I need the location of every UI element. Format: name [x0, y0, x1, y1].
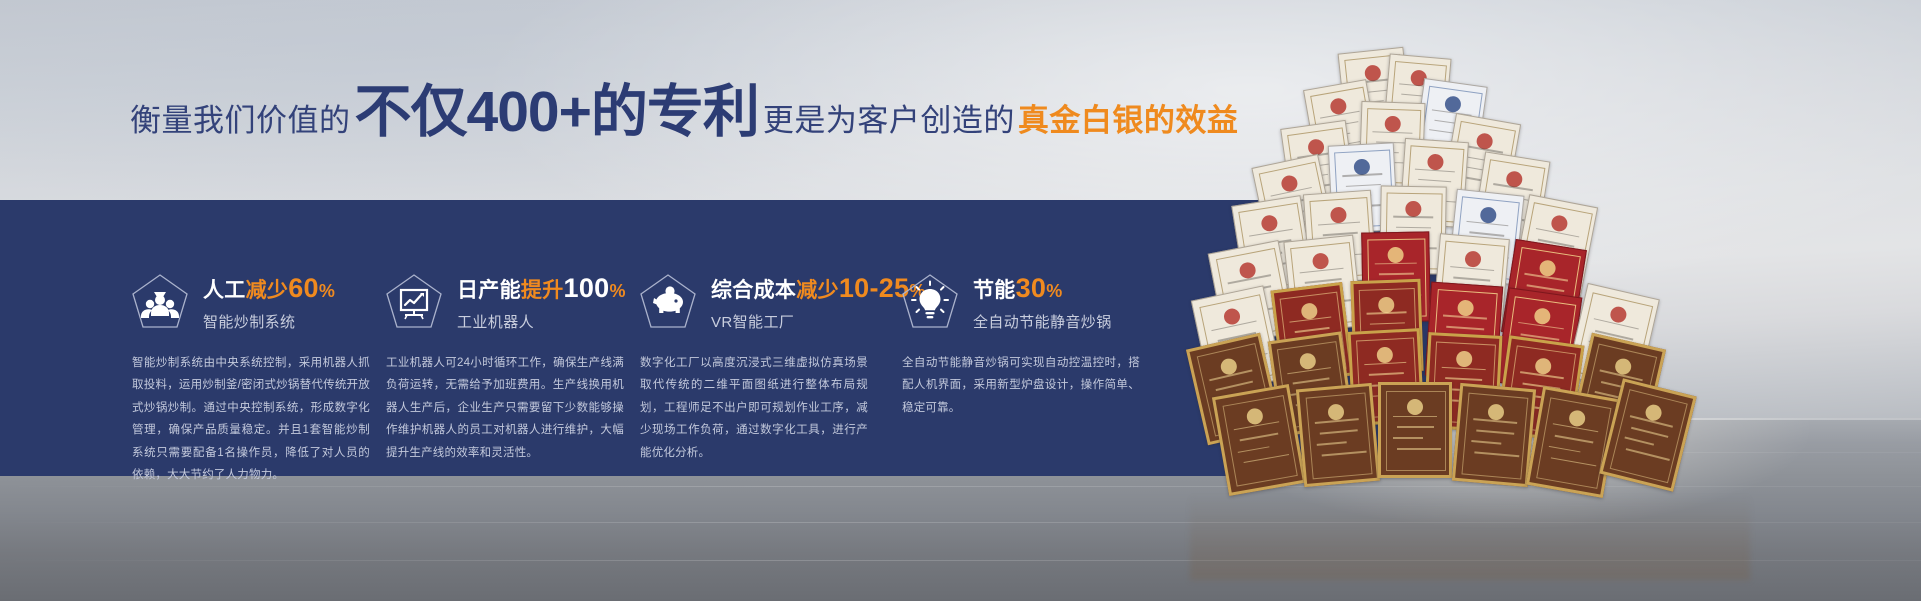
- feature-title: 人工减少60%: [203, 272, 335, 304]
- feature-subtitle: 智能炒制系统: [203, 311, 335, 332]
- certificate-seal: [1378, 296, 1395, 313]
- certificate-text-line: [1316, 442, 1347, 446]
- feature-text: 日产能提升100% 工业机器人: [457, 272, 626, 331]
- feature-subtitle: 工业机器人: [457, 311, 626, 332]
- certificate-seal: [1538, 259, 1556, 277]
- feature-body-text: 工业机器人可24小时循环工作，确保生产线满负荷运转，无需给予加班费用。生产线换用…: [386, 352, 624, 464]
- certificate-text-line: [1346, 184, 1381, 187]
- certificate-seal: [1330, 207, 1347, 224]
- certificate-seal: [1246, 407, 1265, 426]
- feature-text: 节能30% 全自动节能静音炒锅: [973, 272, 1112, 331]
- certificate-text-line: [1370, 322, 1405, 325]
- feature-text: 人工减少60% 智能炒制系统: [203, 272, 335, 331]
- certificate-seal: [1312, 253, 1330, 271]
- certificate-text-line: [1445, 377, 1482, 380]
- feature-subtitle: VR智能工厂: [711, 311, 926, 332]
- certificate-text-line: [1474, 452, 1519, 457]
- certificate-text-line: [1549, 445, 1580, 452]
- feature-header: 综合成本减少10-25% VR智能工厂: [638, 272, 926, 332]
- certificate-text-line: [1393, 216, 1434, 218]
- certificate-seal: [1534, 357, 1552, 375]
- certificate-text-line: [1442, 366, 1486, 370]
- certificate-text-line: [1321, 451, 1366, 456]
- feature-block-capacity: 日产能提升100% 工业机器人 工业机器人可24小时循环工作，确保生产线满负荷运…: [384, 200, 674, 476]
- feature-title: 日产能提升100%: [457, 272, 626, 304]
- certificate-text-line: [1295, 327, 1331, 333]
- certificate-seal: [1353, 158, 1370, 175]
- feature-body-text: 智能炒制系统由中央系统控制，采用机器人抓取投料，运用炒制釜/密闭式炒锅替代传统开…: [132, 352, 370, 487]
- piggy-bank-icon: [638, 272, 698, 332]
- certificate-item: [1378, 382, 1452, 478]
- certificate-item: [1452, 383, 1536, 487]
- certificate-text-line: [1393, 416, 1437, 418]
- certificate-seal: [1464, 251, 1481, 268]
- certificate-award-pile: [1190, 40, 1750, 500]
- certificate-text-line: [1238, 446, 1269, 453]
- certificate-text-line: [1375, 263, 1417, 265]
- certificate-seal: [1405, 201, 1421, 217]
- certificate-seal: [1384, 116, 1401, 133]
- feature-title: 节能30%: [973, 272, 1112, 304]
- feature-subtitle: 全自动节能静音炒锅: [973, 311, 1112, 332]
- certificate-text-line: [1415, 168, 1455, 172]
- certificate-text-line: [1446, 326, 1484, 330]
- headline-middle: 更是为客户创造的: [763, 95, 1015, 140]
- certificate-text-line: [1293, 378, 1330, 385]
- feature-block-energy: 节能30% 全自动节能静音炒锅 全自动节能静音炒锅可实现自动控温控时，搭配人机界…: [900, 200, 1190, 476]
- certificate-text-line: [1476, 430, 1514, 435]
- certificate-text-line: [1396, 226, 1431, 228]
- headline-emphasis: 不仅400+的专利: [355, 84, 759, 141]
- certificate-text-line: [1397, 426, 1434, 428]
- certificate-text-line: [1342, 173, 1383, 177]
- feature-text: 综合成本减少10-25% VR智能工厂: [711, 272, 926, 331]
- feature-title: 综合成本减少10-25%: [711, 272, 926, 304]
- certificate-text-line: [1631, 427, 1668, 438]
- certificate-text-line: [1320, 430, 1358, 435]
- headline-highlight: 真金白银的效益: [1018, 95, 1239, 140]
- certificate-seal: [1487, 403, 1504, 420]
- feature-body-text: 数字化工厂以高度沉浸式三维虚拟仿真场景取代传统的二维平面图纸进行整体布局规划，工…: [640, 352, 868, 464]
- certificate-text-line: [1551, 457, 1597, 466]
- certificate-text-line: [1369, 373, 1405, 376]
- certificate-text-line: [1379, 273, 1415, 275]
- certificate-text-line: [1215, 381, 1252, 391]
- feature-block-cost: 综合成本减少10-25% VR智能工厂 数字化工厂以高度沉浸式三维虚拟仿真场景取…: [638, 200, 938, 476]
- certificate-text-line: [1397, 448, 1441, 450]
- feature-header: 日产能提升100% 工业机器人: [384, 272, 626, 332]
- certificate-text-line: [1471, 440, 1502, 444]
- page-headline: 衡量我们价值的 不仅400+的专利 更是为客户创造的 真金白银的效益: [130, 84, 1238, 142]
- certificate-text-line: [1373, 131, 1413, 134]
- chart-board-icon: [384, 272, 444, 332]
- certificate-text-line: [1366, 312, 1407, 315]
- feature-block-labor: 人工减少60% 智能炒制系统 智能炒制系统由中央系统控制，采用机器人抓取投料，运…: [130, 200, 420, 476]
- certificate-text-line: [1393, 437, 1423, 439]
- certificate-seal: [1479, 206, 1497, 224]
- certificate-text-line: [1318, 221, 1360, 225]
- people-group-icon: [130, 272, 190, 332]
- certificate-seal: [1387, 247, 1403, 263]
- certificate-text-line: [1240, 433, 1279, 441]
- certificate-text-line: [1626, 448, 1670, 460]
- certificate-seal: [1327, 403, 1344, 420]
- certificate-seal: [1457, 299, 1474, 316]
- certificate-text-line: [1418, 179, 1451, 183]
- lightbulb-icon: [900, 272, 960, 332]
- feature-header: 节能30% 全自动节能静音炒锅: [900, 272, 1112, 332]
- certificate-seal: [1456, 351, 1473, 368]
- feature-header: 人工减少60% 智能炒制系统: [130, 272, 335, 332]
- certificate-text-line: [1244, 454, 1290, 463]
- certificate-seal: [1376, 347, 1393, 364]
- certificate-item: [1296, 383, 1380, 487]
- certificate-seal: [1533, 307, 1551, 325]
- feature-body-text: 全自动节能静音炒锅可实现自动控温控时，搭配人机界面，采用新型炉盘设计，操作简单、…: [902, 352, 1140, 419]
- headline-prefix: 衡量我们价值的: [130, 95, 351, 140]
- certificate-seal: [1568, 409, 1587, 428]
- certificate-text-line: [1624, 437, 1654, 446]
- certificate-seal: [1407, 399, 1423, 415]
- certificate-text-line: [1443, 315, 1488, 320]
- certificate-text-line: [1454, 277, 1491, 282]
- certificate-text-line: [1555, 435, 1594, 443]
- certificate-text-line: [1364, 362, 1406, 366]
